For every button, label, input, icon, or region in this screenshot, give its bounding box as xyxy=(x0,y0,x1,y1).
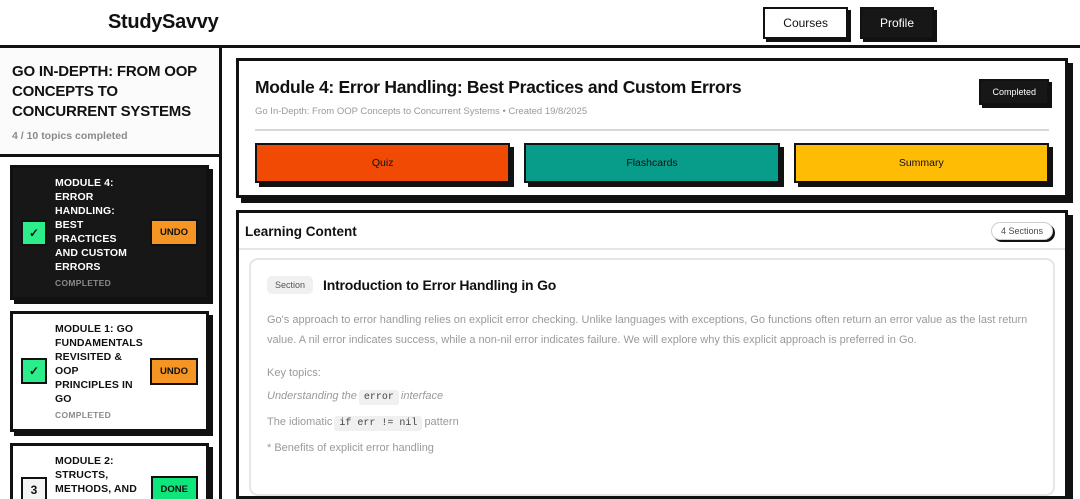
learning-content-title: Learning Content xyxy=(245,224,357,239)
module-header-panel: Module 4: Error Handling: Best Practices… xyxy=(236,58,1068,198)
header-divider xyxy=(255,129,1049,131)
topic-text-before: * Benefits of explicit error handling xyxy=(267,442,434,454)
app-logo: StudySavvy xyxy=(108,11,218,34)
status-badge: Completed xyxy=(979,79,1049,105)
course-progress-text: 4 / 10 topics completed xyxy=(12,130,207,142)
top-navigation-bar: StudySavvy Courses Profile xyxy=(0,0,1080,48)
module-title: MODULE 4: ERROR HANDLING: BEST PRACTICES… xyxy=(55,177,142,275)
key-topic-item-3: * Benefits of explicit error handling xyxy=(267,440,1037,457)
module-done-button[interactable]: DONE xyxy=(151,476,198,499)
nav-profile-button[interactable]: Profile xyxy=(860,7,934,39)
topic-text-after: interface xyxy=(401,390,443,402)
nav-button-group: Courses Profile xyxy=(763,7,1064,39)
section-heading-row: Section Introduction to Error Handling i… xyxy=(267,276,1037,294)
topic-text-before: The idiomatic xyxy=(267,416,332,428)
module-number-badge: 3 xyxy=(21,477,47,499)
module-card-1[interactable]: ✓ MODULE 1: GO FUNDAMENTALS REVISITED & … xyxy=(10,311,209,432)
section-title: Introduction to Error Handling in Go xyxy=(323,277,556,293)
sections-count-badge: 4 Sections xyxy=(991,222,1053,240)
key-topic-item-1: Understanding theerrorinterface xyxy=(267,388,1037,405)
main-content: Module 4: Error Handling: Best Practices… xyxy=(222,48,1080,499)
topic-text-before: Understanding the xyxy=(267,390,357,402)
module-undo-button[interactable]: UNDO xyxy=(150,358,198,385)
module-card-2[interactable]: 3 MODULE 2: STRUCTS, METHODS, AND INTERF… xyxy=(10,443,209,499)
page-body: GO IN-DEPTH: FROM OOP CONCEPTS TO CONCUR… xyxy=(0,48,1080,499)
module-title: MODULE 1: GO FUNDAMENTALS REVISITED & OO… xyxy=(55,323,142,407)
module-text-block: MODULE 4: ERROR HANDLING: BEST PRACTICES… xyxy=(55,177,142,288)
quiz-button[interactable]: Quiz xyxy=(255,143,510,183)
course-header: GO IN-DEPTH: FROM OOP CONCEPTS TO CONCUR… xyxy=(0,48,219,157)
flashcards-button[interactable]: Flashcards xyxy=(524,143,779,183)
module-card-4[interactable]: ✓ MODULE 4: ERROR HANDLING: BEST PRACTIC… xyxy=(10,165,209,300)
learning-content-header: Learning Content 4 Sections xyxy=(239,213,1065,250)
module-status-label: COMPLETED xyxy=(55,278,142,288)
module-action-buttons: Quiz Flashcards Summary xyxy=(255,143,1049,183)
module-text-block: MODULE 1: GO FUNDAMENTALS REVISITED & OO… xyxy=(55,323,142,420)
page-title: Module 4: Error Handling: Best Practices… xyxy=(255,77,979,98)
module-header-row: Module 4: Error Handling: Best Practices… xyxy=(255,77,1049,117)
inline-code: if err != nil xyxy=(334,416,422,431)
section-card: Section Introduction to Error Handling i… xyxy=(249,258,1055,496)
module-undo-button[interactable]: UNDO xyxy=(150,219,198,246)
section-chip: Section xyxy=(267,276,313,294)
inline-code: error xyxy=(359,390,399,405)
module-status-check-icon: ✓ xyxy=(21,358,47,384)
course-title: GO IN-DEPTH: FROM OOP CONCEPTS TO CONCUR… xyxy=(12,62,207,121)
nav-courses-button[interactable]: Courses xyxy=(763,7,848,39)
topic-text-after: pattern xyxy=(424,416,458,428)
module-status-label: COMPLETED xyxy=(55,410,142,420)
learning-content-body[interactable]: Section Introduction to Error Handling i… xyxy=(239,250,1065,496)
key-topics-label: Key topics: xyxy=(267,367,1037,379)
summary-button[interactable]: Summary xyxy=(794,143,1049,183)
app-root: StudySavvy Courses Profile GO IN-DEPTH: … xyxy=(0,0,1080,499)
module-breadcrumb-meta: Go In-Depth: From OOP Concepts to Concur… xyxy=(255,106,979,117)
key-topic-item-2: The idiomaticif err != nilpattern xyxy=(267,414,1037,431)
learning-content-panel: Learning Content 4 Sections Section Intr… xyxy=(236,210,1068,499)
module-title: MODULE 2: STRUCTS, METHODS, AND INTERFAC… xyxy=(55,455,143,499)
module-header-text: Module 4: Error Handling: Best Practices… xyxy=(255,77,979,117)
module-status-check-icon: ✓ xyxy=(21,220,47,246)
module-text-block: MODULE 2: STRUCTS, METHODS, AND INTERFAC… xyxy=(55,455,143,499)
module-list: ✓ MODULE 4: ERROR HANDLING: BEST PRACTIC… xyxy=(0,157,219,499)
section-paragraph: Go's approach to error handling relies o… xyxy=(267,310,1037,351)
course-sidebar: GO IN-DEPTH: FROM OOP CONCEPTS TO CONCUR… xyxy=(0,48,222,499)
